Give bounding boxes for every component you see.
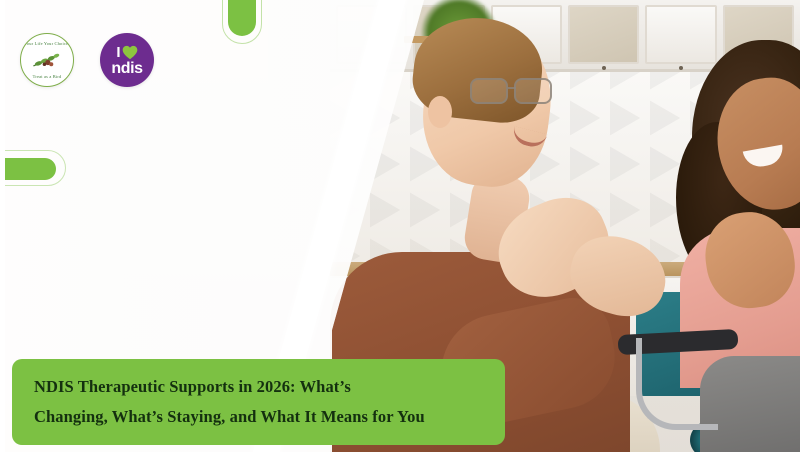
eyeglasses-icon: [470, 78, 556, 106]
ndis-letter-i: I: [116, 45, 120, 60]
cabinet-door: [645, 5, 716, 64]
badge-arc-top-text: Your Life Your Choices: [21, 41, 73, 46]
lens-left: [470, 78, 508, 104]
badge-arc-bottom-text: Treat as a Bird: [21, 74, 73, 79]
man-ear: [428, 96, 452, 128]
promo-banner: Your Life Your Choices Treat as a Bird I: [0, 0, 800, 460]
cabinet-door-glass: [568, 5, 639, 64]
wheelchair-frame: [636, 338, 718, 430]
logo-group: Your Life Your Choices Treat as a Bird I: [20, 33, 154, 87]
left-frame-edge: [0, 0, 5, 460]
bottom-frame-edge: [0, 452, 800, 460]
ndis-logo-top-row: I: [116, 45, 137, 60]
choice-badge-logo[interactable]: Your Life Your Choices Treat as a Bird: [20, 33, 74, 87]
title-card: NDIS Therapeutic Supports in 2026: What’…: [12, 359, 505, 445]
page-title-line-1: NDIS Therapeutic Supports in 2026: What’…: [34, 377, 483, 397]
green-pill-top: [228, 0, 256, 36]
i-love-ndis-logo[interactable]: I ndis: [100, 33, 154, 87]
heart-icon: [122, 45, 138, 60]
ndis-wordmark: ndis: [111, 61, 142, 77]
green-pill-left: [0, 158, 56, 180]
lens-right: [514, 78, 552, 104]
page-title-line-2: Changing, What’s Staying, and What It Me…: [34, 407, 483, 427]
leaf-branch-icon: [30, 47, 64, 73]
